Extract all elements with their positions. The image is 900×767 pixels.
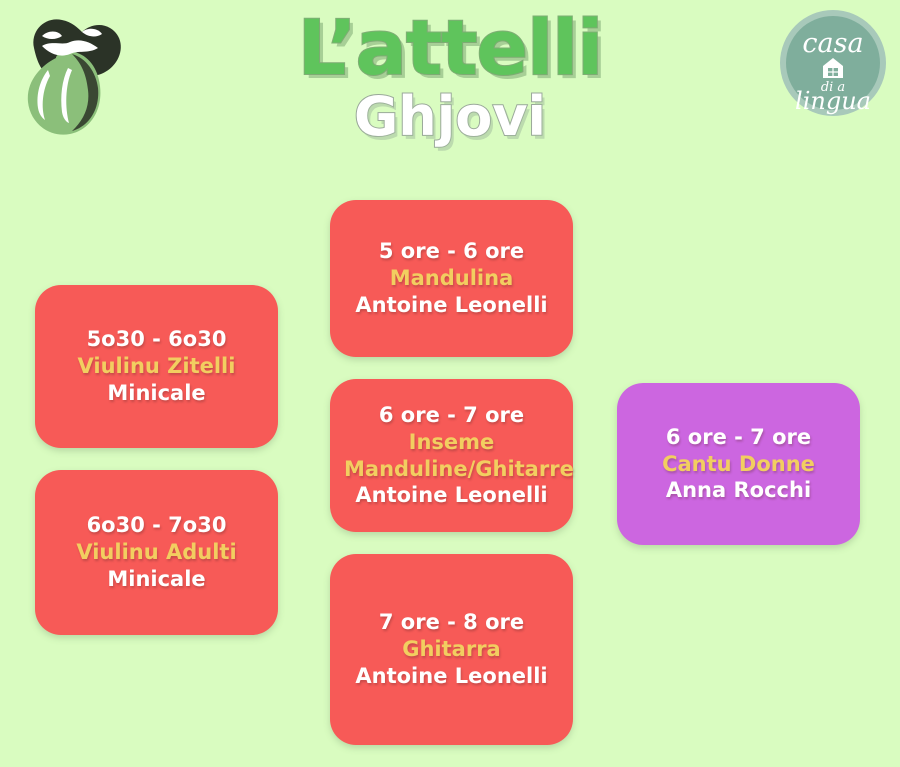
- card-subject: Viulinu Adulti: [49, 539, 264, 566]
- card-subject: Mandulina: [344, 265, 559, 292]
- card-teacher: Minicale: [49, 380, 264, 407]
- schedule-card[interactable]: 5o30 - 6o30 Viulinu Zitelli Minicale: [35, 285, 278, 448]
- card-subject: Ghitarra: [344, 636, 559, 663]
- schedule-column-center: 5 ore - 6 ore Mandulina Antoine Leonelli…: [330, 200, 573, 767]
- card-time: 7 ore - 8 ore: [344, 609, 559, 636]
- page-title: L’attelli: [150, 8, 750, 88]
- schedule-card[interactable]: 6 ore - 7 ore Inseme Manduline/Ghitarre …: [330, 379, 573, 532]
- card-time: 5 ore - 6 ore: [344, 238, 559, 265]
- svg-text:lingua: lingua: [795, 87, 871, 115]
- mouth-tongue-logo: [12, 10, 132, 140]
- card-teacher: Antoine Leonelli: [344, 482, 559, 509]
- title-block: L’attelli Ghjovi: [150, 8, 750, 144]
- page-header: L’attelli Ghjovi casa di a lingua: [0, 0, 900, 185]
- svg-text:casa: casa: [802, 28, 863, 59]
- card-teacher: Antoine Leonelli: [344, 292, 559, 319]
- schedule-card[interactable]: 7 ore - 8 ore Ghitarra Antoine Leonelli: [330, 554, 573, 745]
- card-time: 6 ore - 7 ore: [344, 402, 559, 429]
- schedule-card[interactable]: 6 ore - 7 ore Cantu Donne Anna Rocchi: [617, 383, 860, 545]
- card-time: 6 ore - 7 ore: [631, 424, 846, 451]
- card-time: 5o30 - 6o30: [49, 326, 264, 353]
- card-time: 6o30 - 7o30: [49, 512, 264, 539]
- page-subtitle: Ghjovi: [150, 90, 750, 144]
- schedule-column-left: 5o30 - 6o30 Viulinu Zitelli Minicale 6o3…: [35, 285, 278, 657]
- casa-di-a-lingua-logo: casa di a lingua: [778, 8, 888, 118]
- schedule-card[interactable]: 5 ore - 6 ore Mandulina Antoine Leonelli: [330, 200, 573, 357]
- card-subject: Viulinu Zitelli: [49, 353, 264, 380]
- card-teacher: Anna Rocchi: [631, 477, 846, 504]
- card-subject-2: Manduline/Ghitarre: [344, 456, 559, 483]
- card-teacher: Antoine Leonelli: [344, 663, 559, 690]
- card-subject: Cantu Donne: [631, 451, 846, 478]
- card-subject: Inseme: [344, 429, 559, 456]
- schedule-column-right: 6 ore - 7 ore Cantu Donne Anna Rocchi: [617, 383, 860, 567]
- card-teacher: Minicale: [49, 566, 264, 593]
- schedule-card[interactable]: 6o30 - 7o30 Viulinu Adulti Minicale: [35, 470, 278, 635]
